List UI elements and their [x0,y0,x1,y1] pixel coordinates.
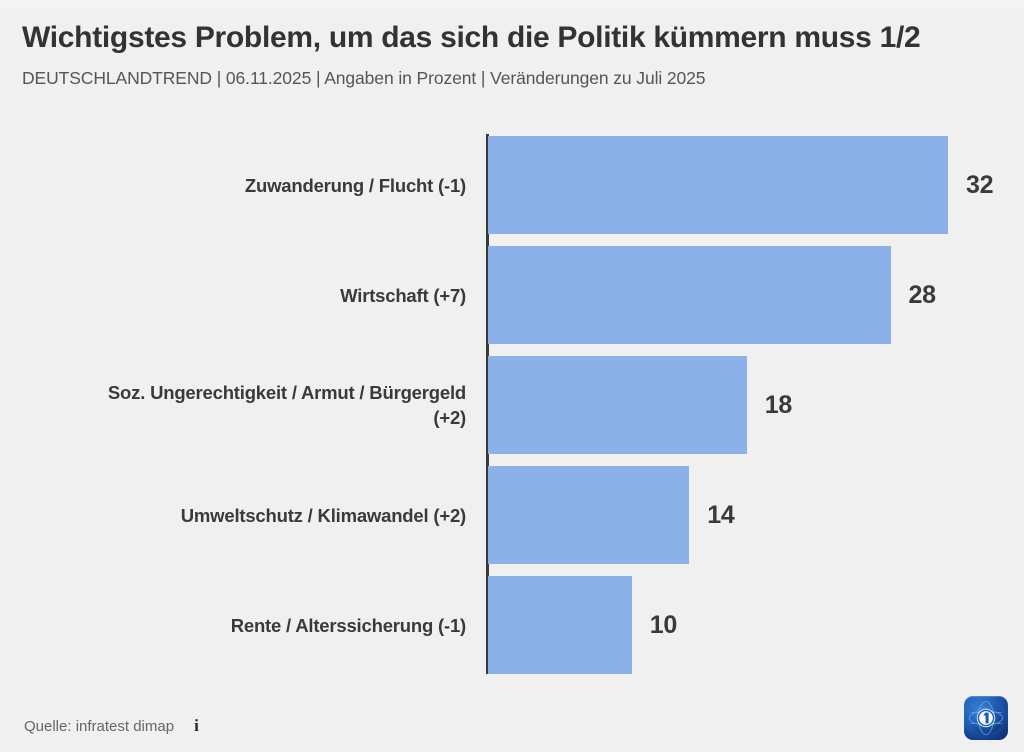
bar-category-label-line: Umweltschutz / Klimawandel (+2) [181,503,466,528]
bar-category-label: Soz. Ungerechtigkeit / Armut / Bürgergel… [46,350,466,460]
chart-subtitle: DEUTSCHLANDTREND | 06.11.2025 | Angaben … [22,66,1002,90]
bar-container: 28 [488,246,936,344]
table-row: Rente / Alterssicherung (-1) 10 [0,570,1024,680]
bar[interactable] [488,356,747,454]
chart-footer: Quelle: infratest dimap i [0,684,1024,752]
info-icon[interactable]: i [194,716,199,736]
bar-container: 18 [488,356,792,454]
bar[interactable] [488,576,632,674]
das-erste-ard-logo[interactable] [964,696,1008,740]
bar-category-label-line: Wirtschaft (+7) [340,283,466,308]
bar[interactable] [488,466,689,564]
chart-header: Wichtigstes Problem, um das sich die Pol… [22,20,1002,90]
logo-globe-icon [964,696,1008,740]
source-label: Quelle: infratest dimap [24,718,174,735]
table-row: Wirtschaft (+7) 28 [0,240,1024,350]
bar-value-label: 28 [909,246,936,344]
page-title: Wichtigstes Problem, um das sich die Pol… [22,20,1002,56]
bar-container: 10 [488,576,677,674]
bar[interactable] [488,136,948,234]
source-note: Quelle: infratest dimap i [24,716,199,736]
top-strip [0,0,1024,8]
table-row: Umweltschutz / Klimawandel (+2) 14 [0,460,1024,570]
bar-category-label: Umweltschutz / Klimawandel (+2) [46,460,466,570]
bar-category-label-line: Rente / Alterssicherung (-1) [231,613,466,638]
bar-category-label: Zuwanderung / Flucht (-1) [46,130,466,240]
bar-rows: Zuwanderung / Flucht (-1) 32 Wirtschaft … [0,130,1024,680]
bar-category-label: Rente / Alterssicherung (-1) [46,570,466,680]
bar-category-label-line: Zuwanderung / Flucht (-1) [245,173,466,198]
bar[interactable] [488,246,891,344]
bar-value-label: 32 [966,136,993,234]
bar-chart-plot: Zuwanderung / Flucht (-1) 32 Wirtschaft … [0,130,1024,680]
bar-value-label: 14 [707,466,734,564]
bar-container: 14 [488,466,734,564]
bar-category-label: Wirtschaft (+7) [46,240,466,350]
table-row: Soz. Ungerechtigkeit / Armut / Bürgergel… [0,350,1024,460]
bar-container: 32 [488,136,993,234]
bar-category-label-line: Soz. Ungerechtigkeit / Armut / Bürgergel… [108,380,466,405]
bar-value-label: 10 [650,576,677,674]
infographic-chart: Wichtigstes Problem, um das sich die Pol… [0,0,1024,752]
bar-value-label: 18 [765,356,792,454]
table-row: Zuwanderung / Flucht (-1) 32 [0,130,1024,240]
bar-category-change-line: (+2) [433,405,466,430]
